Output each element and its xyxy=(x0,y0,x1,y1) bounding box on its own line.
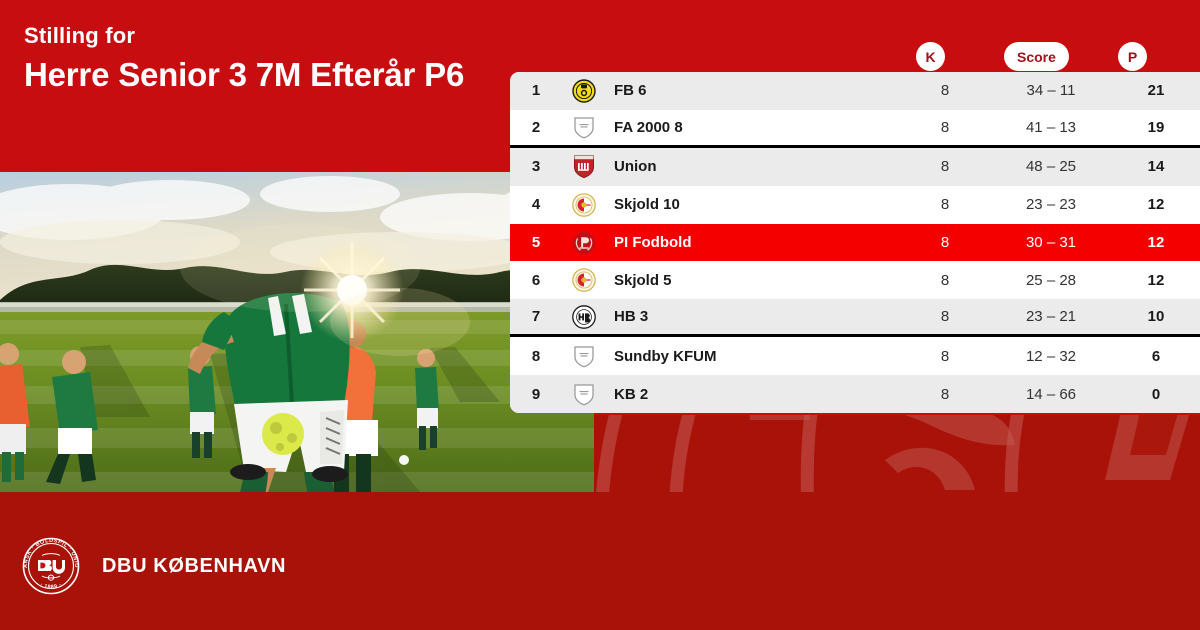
row-matches: 8 xyxy=(900,119,990,136)
row-points: 6 xyxy=(1112,348,1200,365)
row-position: 5 xyxy=(510,234,562,251)
standings-table[interactable]: 1 FB 6 8 34 – 11 21 2 xyxy=(510,72,1200,413)
row-position: 3 xyxy=(510,158,562,175)
generic-shield-icon xyxy=(562,115,606,139)
table-row[interactable]: 6 Skjold 5 8 25 – 28 12 xyxy=(510,261,1200,299)
dbu-seal-icon: DANSK · BOLDSPIL · UNION · 1889 · xyxy=(22,537,80,595)
row-score: 25 – 28 xyxy=(990,272,1112,289)
column-header-points: P xyxy=(1118,42,1147,71)
row-score: 14 – 66 xyxy=(990,386,1112,403)
row-matches: 8 xyxy=(900,308,990,325)
row-score: 23 – 23 xyxy=(990,196,1112,213)
football-match-photo xyxy=(0,172,594,492)
row-points: 12 xyxy=(1112,272,1200,289)
standings-graphic: Stilling for Herre Senior 3 7M Efterår P… xyxy=(0,0,1200,630)
table-row[interactable]: 9 KB 2 8 14 – 66 0 xyxy=(510,375,1200,413)
row-team-name: HB 3 xyxy=(606,308,900,325)
row-position: 4 xyxy=(510,196,562,213)
row-position: 8 xyxy=(510,348,562,365)
union-crest-icon xyxy=(562,154,606,179)
table-row-highlighted[interactable]: 5 PI Fodbold 8 30 – 31 1 xyxy=(510,224,1200,262)
footer-bar: DANSK · BOLDSPIL · UNION · 1889 · xyxy=(0,492,1200,630)
table-row[interactable]: 1 FB 6 8 34 – 11 21 xyxy=(510,72,1200,110)
row-position: 1 xyxy=(510,82,562,99)
row-points: 10 xyxy=(1112,308,1200,325)
row-position: 6 xyxy=(510,272,562,289)
row-team-name: Sundby KFUM xyxy=(606,348,900,365)
row-position: 7 xyxy=(510,308,562,325)
organisation-name: DBU KØBENHAVN xyxy=(102,555,286,578)
row-matches: 8 xyxy=(900,386,990,403)
row-position: 2 xyxy=(510,119,562,136)
row-matches: 8 xyxy=(900,196,990,213)
row-points: 19 xyxy=(1112,119,1200,136)
row-team-name: Skjold 5 xyxy=(606,272,900,289)
row-team-name: PI Fodbold xyxy=(606,234,900,251)
row-score: 30 – 31 xyxy=(990,234,1112,251)
column-header-matches: K xyxy=(916,42,945,71)
skjold-crest-icon xyxy=(562,268,606,292)
row-team-name: KB 2 xyxy=(606,386,900,403)
row-score: 12 – 32 xyxy=(990,348,1112,365)
row-matches: 8 xyxy=(900,348,990,365)
row-score: 48 – 25 xyxy=(990,158,1112,175)
table-row[interactable]: 2 FA 2000 8 8 41 – 13 19 xyxy=(510,110,1200,148)
column-header-score: Score xyxy=(1004,42,1069,71)
table-row[interactable]: 3 Union 8 48 – 25 14 xyxy=(510,148,1200,186)
row-matches: 8 xyxy=(900,234,990,251)
hb-crest-icon xyxy=(562,305,606,329)
svg-text:· 1889 ·: · 1889 · xyxy=(39,582,63,591)
column-header-badges: K Score P xyxy=(0,0,1200,72)
row-matches: 8 xyxy=(900,82,990,99)
fb-crest-icon xyxy=(562,79,606,103)
table-row[interactable]: 4 Skjold 10 8 23 – 23 12 xyxy=(510,186,1200,224)
row-points: 14 xyxy=(1112,158,1200,175)
row-points: 12 xyxy=(1112,234,1200,251)
row-score: 34 – 11 xyxy=(990,82,1112,99)
row-points: 0 xyxy=(1112,386,1200,403)
row-matches: 8 xyxy=(900,272,990,289)
row-points: 21 xyxy=(1112,82,1200,99)
row-points: 12 xyxy=(1112,196,1200,213)
skjold-crest-icon xyxy=(562,193,606,217)
row-team-name: Union xyxy=(606,158,900,175)
row-team-name: FA 2000 8 xyxy=(606,119,900,136)
table-row[interactable]: 7 HB 3 8 23 – 21 10 xyxy=(510,299,1200,337)
row-matches: 8 xyxy=(900,158,990,175)
row-score: 23 – 21 xyxy=(990,308,1112,325)
table-row[interactable]: 8 Sundby KFUM 8 12 – 32 6 xyxy=(510,337,1200,375)
generic-shield-icon xyxy=(562,344,606,368)
pi-crest-icon xyxy=(562,231,606,255)
row-team-name: Skjold 10 xyxy=(606,196,900,213)
row-score: 41 – 13 xyxy=(990,119,1112,136)
row-team-name: FB 6 xyxy=(606,82,900,99)
generic-shield-icon xyxy=(562,382,606,406)
row-position: 9 xyxy=(510,386,562,403)
